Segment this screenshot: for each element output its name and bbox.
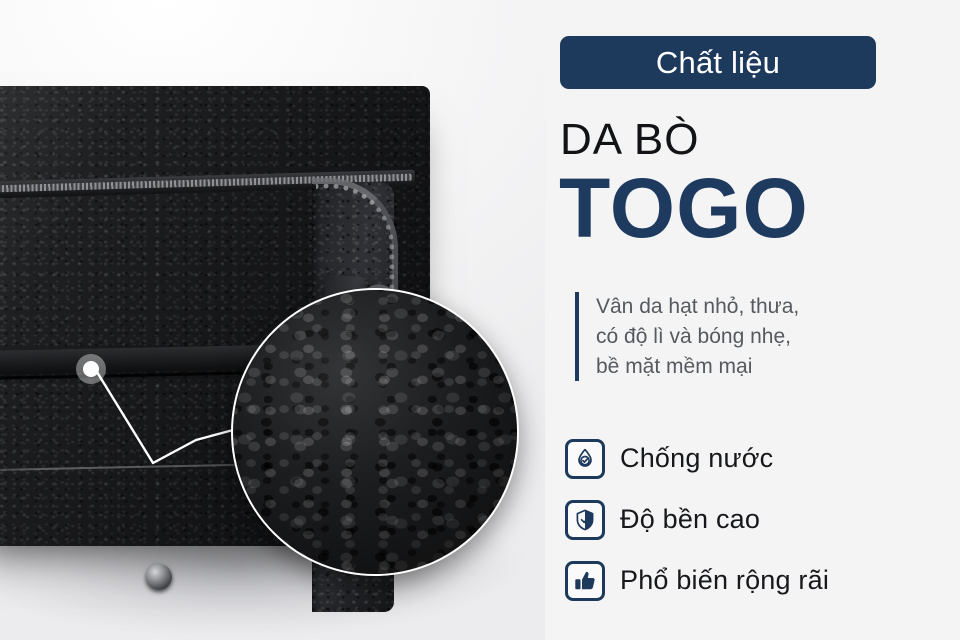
material-feature-banner: Chất liệu DA BÒ TOGO Vân da hạt nhỏ, thư… (0, 0, 960, 640)
headline-line-1: DA BÒ (560, 118, 700, 162)
product-photo (0, 0, 545, 640)
thumbs-up-icon (565, 561, 605, 601)
feature-label: Phổ biến rộng rãi (620, 565, 829, 596)
feature-item-popularity: Phổ biến rộng rãi (565, 550, 955, 611)
callout-marker-dot[interactable] (83, 361, 99, 377)
info-panel: Chất liệu DA BÒ TOGO Vân da hạt nhỏ, thư… (545, 0, 960, 640)
feature-item-durability: Độ bền cao (565, 489, 955, 550)
water-drop-check-icon (565, 439, 605, 479)
feature-label: Độ bền cao (620, 504, 760, 535)
feature-list: Chống nước Độ bền cao (565, 428, 955, 611)
feature-item-waterproof: Chống nước (565, 428, 955, 489)
feature-label: Chống nước (620, 443, 773, 474)
magnifier-bubble (231, 288, 519, 576)
magnifier-shading (233, 290, 517, 574)
description-text: Vân da hạt nhỏ, thưa, có độ lì và bóng n… (596, 292, 799, 381)
section-badge-label: Chất liệu (656, 45, 780, 81)
headline-line-2: TOGO (559, 166, 809, 250)
section-badge: Chất liệu (560, 36, 876, 89)
description-block: Vân da hạt nhỏ, thưa, có độ lì và bóng n… (575, 292, 799, 381)
shield-check-icon (565, 500, 605, 540)
